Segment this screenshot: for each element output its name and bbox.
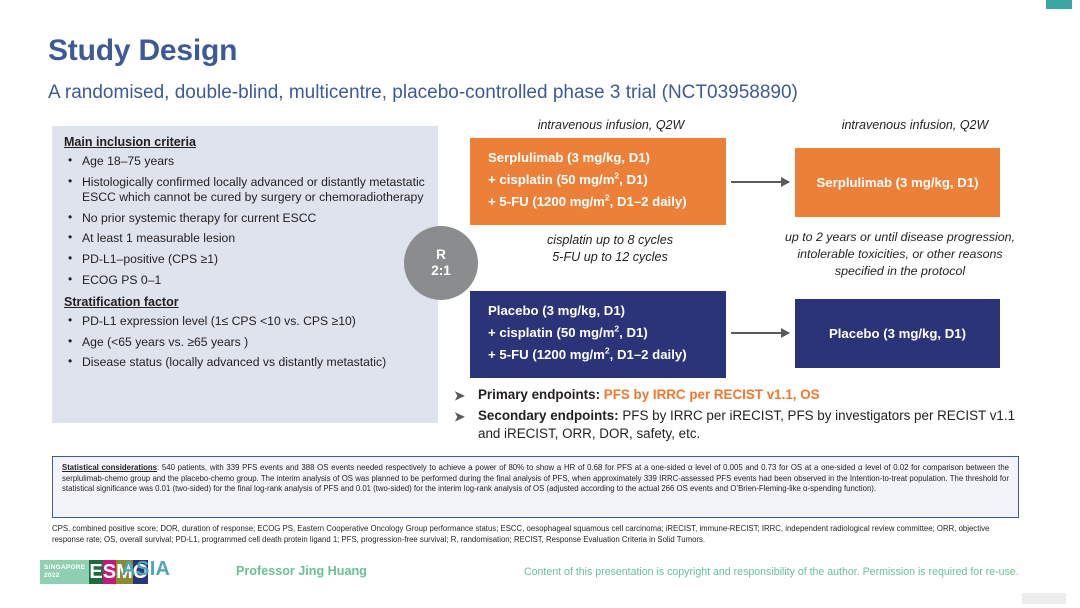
experimental-arm-box: Serplulimab (3 mg/kg, D1) + cisplatin (5… bbox=[470, 138, 726, 225]
randomisation-node: R 2:1 bbox=[404, 226, 478, 300]
stratification-list: PD-L1 expression level (1≤ CPS <10 vs. C… bbox=[56, 314, 428, 371]
control-arm-line2: + cisplatin (50 mg/m2, D1) bbox=[488, 322, 726, 344]
list-item: PD-L1 expression level (1≤ CPS <10 vs. C… bbox=[56, 314, 428, 330]
cycles-line-2: 5-FU up to 12 cycles bbox=[500, 249, 720, 266]
logo-letter-e: E bbox=[89, 560, 102, 584]
randomisation-letter: R bbox=[436, 247, 446, 263]
endpoints-section: ➤ Primary endpoints: PFS by IRRC per REC… bbox=[452, 386, 1032, 446]
list-item: ECOG PS 0–1 bbox=[56, 273, 428, 289]
logo-congress-badge: SINGAPORE 2022 bbox=[40, 560, 89, 584]
secondary-endpoint-row: ➤ Secondary endpoints: PFS by IRRC per i… bbox=[452, 407, 1032, 444]
chevron-right-icon: ➤ bbox=[454, 408, 465, 427]
slide-canvas: Study Design A randomised, double-blind,… bbox=[0, 0, 1080, 608]
list-item: At least 1 measurable lesion bbox=[56, 231, 428, 247]
control-arm-box: Placebo (3 mg/kg, D1) + cisplatin (50 mg… bbox=[470, 291, 726, 378]
primary-endpoint-label: Primary endpoints: bbox=[478, 387, 600, 402]
page-title: Study Design bbox=[48, 34, 237, 68]
inclusion-criteria-panel: Main inclusion criteria Age 18–75 years … bbox=[52, 126, 438, 423]
control-arm-line3: + 5-FU (1200 mg/m2, D1–2 daily) bbox=[488, 344, 726, 366]
statistical-considerations-text: Statistical considerations: 540 patients… bbox=[62, 463, 1009, 495]
abbreviations-footnote: CPS, combined positive score; DOR, durat… bbox=[52, 524, 1019, 545]
presenter-name: Professor Jing Huang bbox=[236, 564, 367, 578]
statistical-considerations-lead: Statistical considerations bbox=[62, 463, 157, 472]
duration-line-2: intolerable toxicities, or other reasons bbox=[768, 246, 1032, 263]
list-item: No prior systemic therapy for current ES… bbox=[56, 211, 428, 227]
maintenance-experimental-box: Serplulimab (3 mg/kg, D1) bbox=[795, 148, 1000, 217]
copyright-notice: Content of this presentation is copyrigh… bbox=[524, 566, 1019, 578]
list-item: Disease status (locally advanced vs dist… bbox=[56, 355, 428, 371]
logo-letter-s: S bbox=[103, 560, 116, 584]
page-subtitle: A randomised, double-blind, multicentre,… bbox=[48, 82, 798, 104]
maintenance-control-box: Placebo (3 mg/kg, D1) bbox=[795, 299, 1000, 368]
experimental-arm-line3: + 5-FU (1200 mg/m2, D1–2 daily) bbox=[488, 191, 726, 213]
control-arm-line1: Placebo (3 mg/kg, D1) bbox=[488, 300, 726, 322]
cycles-line-1: cisplatin up to 8 cycles bbox=[500, 232, 720, 249]
duration-line-1: up to 2 years or until disease progressi… bbox=[768, 229, 1032, 246]
arrow-to-maintenance-experimental bbox=[731, 181, 789, 183]
list-item: Age 18–75 years bbox=[56, 154, 428, 170]
arrow-to-maintenance-control bbox=[731, 332, 789, 334]
list-item: Age (<65 years vs. ≥65 years ) bbox=[56, 335, 428, 351]
primary-endpoint-value: PFS by IRRC per RECIST v1.1, OS bbox=[604, 387, 820, 402]
list-item: Histologically confirmed locally advance… bbox=[56, 175, 428, 206]
randomisation-ratio: 2:1 bbox=[431, 263, 451, 279]
list-item: PD-L1–positive (CPS ≥1) bbox=[56, 252, 428, 268]
bottom-right-chip bbox=[1022, 593, 1066, 604]
experimental-arm-line1: Serplulimab (3 mg/kg, D1) bbox=[488, 147, 726, 169]
logo-asia-label: ASIA bbox=[121, 557, 170, 581]
treatment-duration-note: up to 2 years or until disease progressi… bbox=[768, 229, 1032, 280]
chevron-right-icon: ➤ bbox=[454, 387, 465, 406]
secondary-endpoint-label: Secondary endpoints: bbox=[478, 408, 619, 423]
inclusion-criteria-heading: Main inclusion criteria bbox=[64, 135, 428, 149]
logo-esmo-wordmark: ESMO ASIA bbox=[89, 560, 148, 584]
infusion-label-right: intravenous infusion, Q2W bbox=[790, 118, 1040, 132]
primary-endpoint-row: ➤ Primary endpoints: PFS by IRRC per REC… bbox=[452, 386, 1032, 405]
experimental-arm-line2: + cisplatin (50 mg/m2, D1) bbox=[488, 169, 726, 191]
infusion-label-left: intravenous infusion, Q2W bbox=[486, 118, 736, 132]
statistical-considerations-box: Statistical considerations: 540 patients… bbox=[52, 456, 1019, 518]
chemo-cycles-note: cisplatin up to 8 cycles 5-FU up to 12 c… bbox=[500, 232, 720, 266]
statistical-considerations-body: : 540 patients, with 339 PFS events and … bbox=[62, 463, 1009, 493]
stratification-heading: Stratification factor bbox=[64, 295, 428, 309]
logo-city: SINGAPORE bbox=[44, 564, 85, 572]
esmo-asia-logo: SINGAPORE 2022 ESMO ASIA bbox=[40, 560, 148, 584]
duration-line-3: specified in the protocol bbox=[768, 263, 1032, 280]
inclusion-criteria-list: Age 18–75 years Histologically confirmed… bbox=[56, 154, 428, 288]
logo-year: 2022 bbox=[44, 572, 85, 580]
corner-accent-tab bbox=[1046, 0, 1072, 9]
